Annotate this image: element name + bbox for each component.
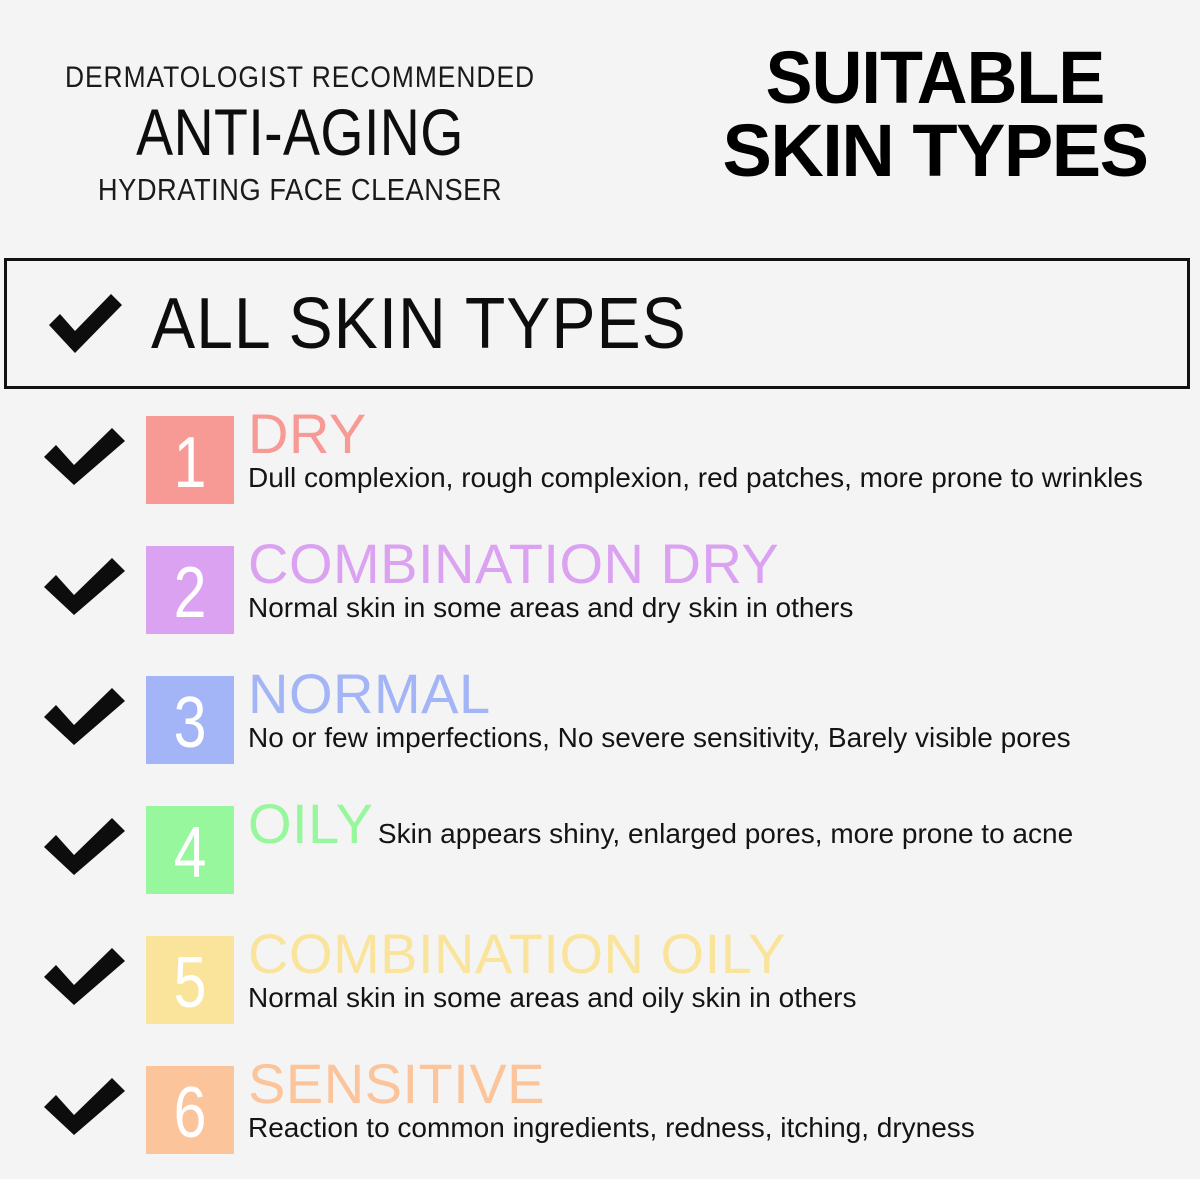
skin-type-description: Normal skin in some areas and dry skin i… <box>248 592 853 623</box>
skin-type-number: 5 <box>174 947 207 1019</box>
product-eyebrow: DERMATOLOGIST RECOMMENDED <box>36 62 564 94</box>
skin-type-name: OILY <box>248 792 373 855</box>
section-heading-block: SUITABLE SKIN TYPES <box>700 42 1170 187</box>
skin-type-name: DRY <box>248 402 367 465</box>
list-item: 5 COMBINATION OILY Normal skin in some a… <box>0 918 1200 1048</box>
skin-type-description: Skin appears shiny, enlarged pores, more… <box>378 818 1073 849</box>
skin-type-content: COMBINATION DRY Normal skin in some area… <box>248 536 1194 623</box>
product-subtitle: HYDRATING FACE CLEANSER <box>36 173 564 207</box>
skin-type-number-badge: 4 <box>146 806 234 894</box>
skin-type-list: 1 DRY Dull complexion, rough complexion,… <box>0 398 1200 1178</box>
skin-type-number: 1 <box>174 427 207 499</box>
check-icon <box>42 816 128 878</box>
skin-type-content: NORMAL No or few imperfections, No sever… <box>248 666 1194 753</box>
skin-type-number: 4 <box>174 817 207 889</box>
check-icon <box>42 426 128 488</box>
skin-type-number: 6 <box>174 1077 207 1149</box>
skin-type-content: SENSITIVE Reaction to common ingredients… <box>248 1056 1194 1143</box>
skin-type-content: COMBINATION OILY Normal skin in some are… <box>248 926 1194 1013</box>
skin-type-number-badge: 2 <box>146 546 234 634</box>
header: DERMATOLOGIST RECOMMENDED ANTI-AGING HYD… <box>0 0 1200 250</box>
list-item: 6 SENSITIVE Reaction to common ingredien… <box>0 1048 1200 1178</box>
skin-type-name: SENSITIVE <box>248 1052 545 1115</box>
skin-type-content: DRY Dull complexion, rough complexion, r… <box>248 406 1194 493</box>
skin-type-description: Dull complexion, rough complexion, red p… <box>248 462 1143 493</box>
check-icon <box>43 291 127 357</box>
skin-type-description: Reaction to common ingredients, redness,… <box>248 1112 975 1143</box>
all-skin-types-label: ALL SKIN TYPES <box>151 288 687 360</box>
skin-type-name: NORMAL <box>248 662 491 725</box>
product-title-block: DERMATOLOGIST RECOMMENDED ANTI-AGING HYD… <box>0 62 600 208</box>
product-title: ANTI-AGING <box>48 96 552 170</box>
check-icon <box>42 946 128 1008</box>
skin-type-content: OILY Skin appears shiny, enlarged pores,… <box>248 796 1194 852</box>
skin-type-description: Normal skin in some areas and oily skin … <box>248 982 856 1013</box>
skin-type-number: 3 <box>174 687 207 759</box>
all-skin-types-banner: ALL SKIN TYPES <box>4 258 1190 389</box>
list-item: 1 DRY Dull complexion, rough complexion,… <box>0 398 1200 528</box>
skin-type-number-badge: 1 <box>146 416 234 504</box>
section-heading-line2: SKIN TYPES <box>700 115 1170 188</box>
skin-type-name: COMBINATION DRY <box>248 532 779 595</box>
list-item: 3 NORMAL No or few imperfections, No sev… <box>0 658 1200 788</box>
skin-type-description: No or few imperfections, No severe sensi… <box>248 722 1071 753</box>
check-icon <box>42 556 128 618</box>
check-icon <box>42 1076 128 1138</box>
skin-type-number-badge: 3 <box>146 676 234 764</box>
check-icon <box>42 686 128 748</box>
section-heading-line1: SUITABLE <box>712 42 1159 115</box>
list-item: 4 OILY Skin appears shiny, enlarged pore… <box>0 788 1200 918</box>
skin-type-number-badge: 6 <box>146 1066 234 1154</box>
skin-type-name: COMBINATION OILY <box>248 922 786 985</box>
skin-type-number-badge: 5 <box>146 936 234 1024</box>
list-item: 2 COMBINATION DRY Normal skin in some ar… <box>0 528 1200 658</box>
skin-type-number: 2 <box>174 557 207 629</box>
